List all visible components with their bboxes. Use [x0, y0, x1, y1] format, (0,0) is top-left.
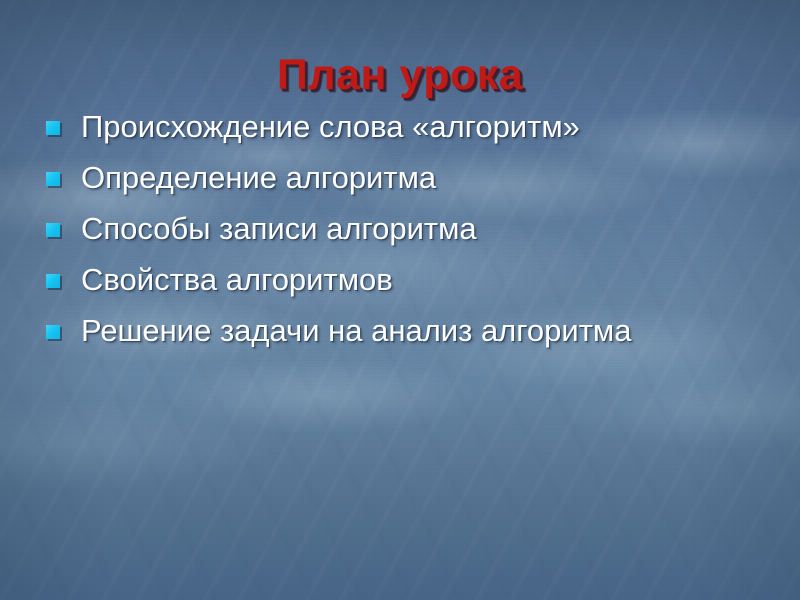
agenda-bullet-list: Происхождение слова «алгоритм» Определен… [46, 108, 780, 363]
list-item[interactable]: Происхождение слова «алгоритм» [46, 108, 780, 159]
list-item[interactable]: Решение задачи на анализ алгоритма [46, 312, 780, 363]
list-item[interactable]: Свойства алгоритмов [46, 261, 780, 312]
square-bullet-icon [46, 325, 60, 339]
list-item-label: Решение задачи на анализ алгоритма [81, 312, 780, 350]
list-item-label: Свойства алгоритмов [81, 261, 780, 299]
square-bullet-icon [46, 223, 60, 237]
list-item[interactable]: Способы записи алгоритма [46, 210, 780, 261]
presentation-slide: План урока Происхождение слова «алгоритм… [0, 0, 800, 600]
square-bullet-icon [46, 274, 60, 288]
square-bullet-icon [46, 172, 60, 186]
list-item-label: Определение алгоритма [81, 159, 780, 197]
list-item-label: Способы записи алгоритма [81, 210, 780, 248]
list-item-label: Происхождение слова «алгоритм» [81, 108, 780, 146]
square-bullet-icon [46, 121, 60, 135]
list-item[interactable]: Определение алгоритма [46, 159, 780, 210]
slide-content: План урока Происхождение слова «алгоритм… [0, 0, 800, 600]
slide-title: План урока [0, 51, 800, 100]
